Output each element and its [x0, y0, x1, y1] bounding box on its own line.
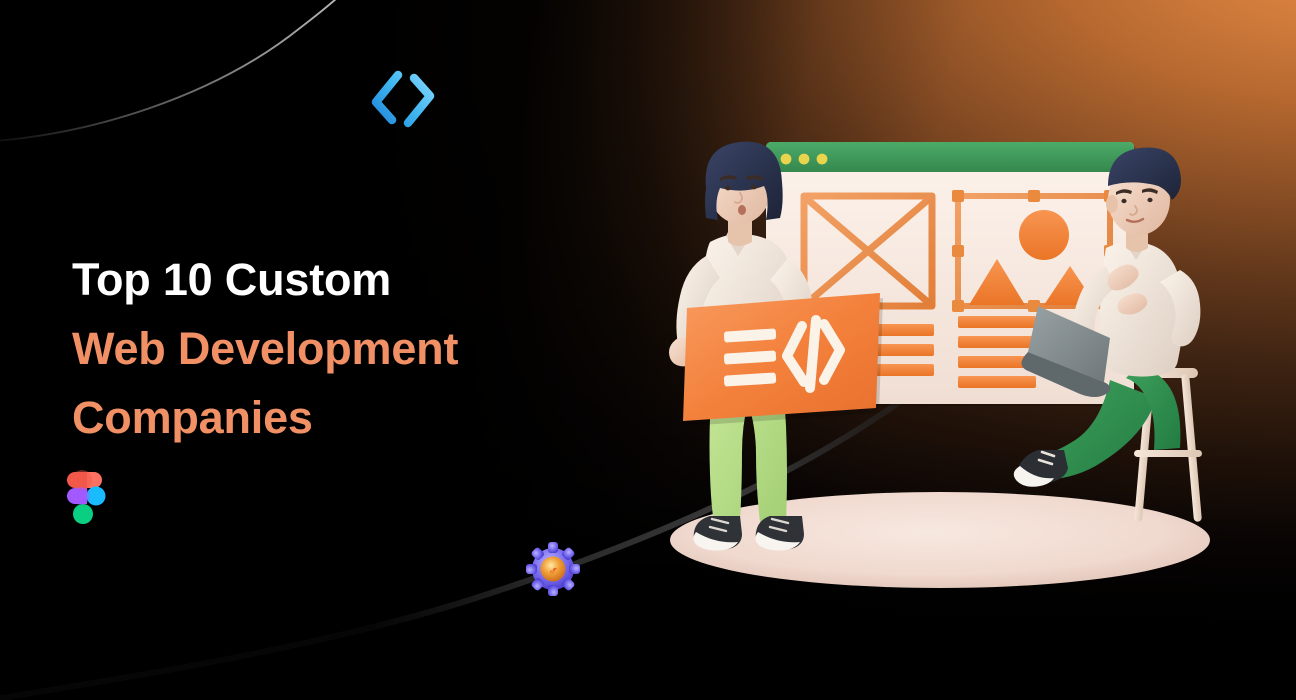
code-logo-icon	[366, 66, 440, 132]
gear-icon	[522, 538, 584, 600]
web-development-team-illustration	[640, 130, 1260, 580]
man-shoe	[1014, 450, 1068, 487]
code-card-lines	[724, 328, 777, 386]
browser-dots	[781, 154, 828, 165]
code-card	[683, 293, 883, 426]
woman-shoe-left	[693, 516, 742, 551]
floor-platform	[670, 492, 1210, 588]
woman-shoe-right	[755, 516, 804, 551]
figma-logo-icon	[60, 468, 116, 542]
arc-top-left-icon	[0, 0, 362, 142]
headline-line-3: Companies	[72, 383, 692, 452]
placeholder-circle-shape	[1019, 210, 1069, 260]
headline-block: Top 10 Custom Web Development Companies	[72, 245, 692, 452]
headline-line-1: Top 10 Custom	[72, 245, 692, 314]
hero-banner: Top 10 Custom Web Development Companies	[0, 0, 1296, 700]
headline-line-2: Web Development	[72, 314, 692, 383]
